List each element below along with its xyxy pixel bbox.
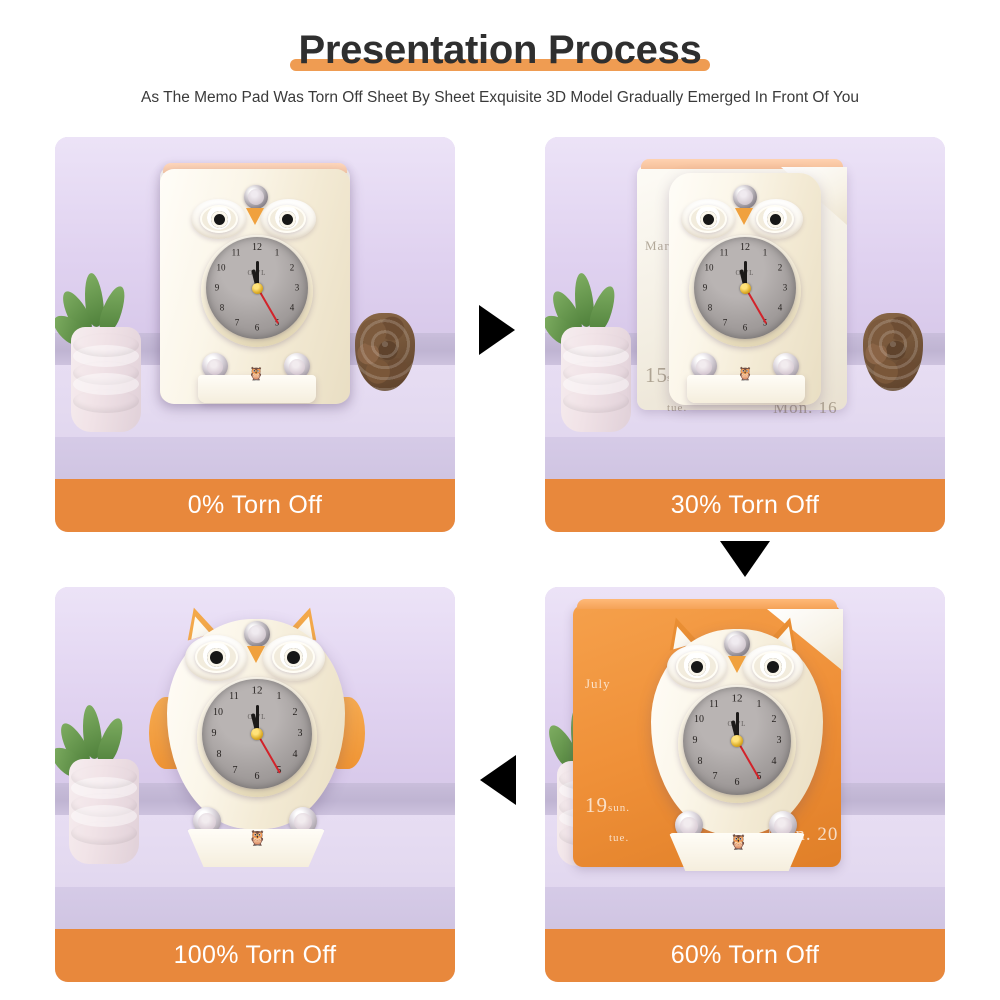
- owl-pupil-right: [764, 658, 782, 676]
- panel-60-percent[interactable]: July 19 sun. tue. Mon. 20: [545, 587, 945, 982]
- owl-beak: [247, 646, 265, 663]
- owl-eye-right: [752, 651, 794, 682]
- arrow-right-icon: [479, 305, 515, 355]
- panel-photo: OWL 12 1 2 3 4 5 6 7 8 9 10 11: [55, 587, 455, 929]
- page-header: Presentation Process As The Memo Pad Was…: [0, 0, 1000, 125]
- owl-eye-right: [268, 205, 306, 233]
- clock-face: OWL 12 1 2 3 4 5 6 7 8 9 10 11: [206, 237, 308, 339]
- title-wrapper: Presentation Process: [0, 26, 1000, 78]
- succulent-plant: [61, 265, 153, 435]
- owl-pupil-left: [207, 648, 226, 667]
- plant-pot: [71, 327, 141, 432]
- owl-eye-right: [756, 205, 794, 233]
- memo-date-left: 19: [585, 795, 608, 816]
- alarm-bell-button[interactable]: [244, 185, 268, 209]
- owl-eye-left: [195, 641, 238, 673]
- panel-caption: 60% Torn Off: [545, 929, 945, 982]
- owl-pupil-right: [767, 211, 784, 228]
- owl-clock: OWL 12 1 2 3 4 5 6 7 8 9 10 11: [151, 601, 366, 901]
- owl-eye-left: [200, 205, 238, 233]
- plant-pot: [69, 759, 139, 864]
- panel-photo: March 15 sun. tue. Mon. 16: [545, 137, 945, 479]
- succulent-plant: [59, 697, 151, 867]
- panel-caption: 30% Torn Off: [545, 479, 945, 532]
- owl-clock: OWL 12 1 2 3 4 5 6 7 8 9 10 11: [158, 161, 356, 431]
- owl-logo-badge: 🦉: [248, 367, 264, 380]
- page-title: Presentation Process: [298, 28, 701, 72]
- panel-caption: 100% Torn Off: [55, 929, 455, 982]
- arrow-left-icon: [480, 755, 516, 805]
- alarm-bell-button[interactable]: [244, 621, 270, 647]
- owl-logo-badge: 🦉: [729, 835, 748, 850]
- owl-eye-right: [272, 641, 315, 673]
- backdrop-foreground: [545, 437, 945, 479]
- owl-clock: OWL 12 1 2 3 4 5 6 7 8 9 10 11: [663, 163, 843, 429]
- panel-30-percent[interactable]: March 15 sun. tue. Mon. 16: [545, 137, 945, 532]
- backdrop-foreground: [55, 437, 455, 479]
- panel-100-percent[interactable]: OWL 12 1 2 3 4 5 6 7 8 9 10 11: [55, 587, 455, 982]
- panel-0-percent[interactable]: OWL 12 1 2 3 4 5 6 7 8 9 10 11: [55, 137, 455, 532]
- memo-day-left: sun.: [608, 803, 630, 814]
- memo-day-mid: tue.: [609, 833, 629, 844]
- memo-pad-top-edge: [577, 599, 837, 609]
- presentation-page: Presentation Process As The Memo Pad Was…: [0, 0, 1000, 1000]
- owl-logo-badge: 🦉: [248, 831, 267, 846]
- clock-face: OWL 12 1 2 3 4 5 6 7 8 9 10 11: [683, 687, 791, 795]
- alarm-bell-button[interactable]: [733, 185, 757, 209]
- page-subtitle: As The Memo Pad Was Torn Off Sheet By Sh…: [0, 88, 1000, 108]
- panel-photo: OWL 12 1 2 3 4 5 6 7 8 9 10 11: [55, 137, 455, 479]
- owl-pupil-right: [279, 211, 296, 228]
- owl-pupil-right: [284, 648, 303, 667]
- alarm-bell-button[interactable]: [724, 631, 750, 657]
- panel-caption: 0% Torn Off: [55, 479, 455, 532]
- succulent-plant: [551, 265, 643, 435]
- owl-eye-left: [689, 205, 727, 233]
- owl-beak: [735, 208, 753, 225]
- owl-clock: OWL 12 1 2 3 4 5 6 7 8 9 10 11: [637, 609, 847, 899]
- panel-grid: OWL 12 1 2 3 4 5 6 7 8 9 10 11: [55, 137, 945, 982]
- owl-eye-left: [676, 651, 718, 682]
- memo-month-label: July: [585, 677, 611, 690]
- arrow-down-icon: [720, 541, 770, 577]
- plant-pot: [561, 327, 631, 432]
- clock-face: OWL 12 1 2 3 4 5 6 7 8 9 10 11: [202, 679, 312, 789]
- owl-pupil-left: [700, 211, 717, 228]
- owl-pupil-left: [688, 658, 706, 676]
- panel-photo: July 19 sun. tue. Mon. 20: [545, 587, 945, 929]
- owl-beak: [246, 208, 264, 225]
- owl-pupil-left: [211, 211, 228, 228]
- owl-beak: [728, 656, 746, 673]
- owl-logo-badge: 🦉: [737, 367, 753, 380]
- clock-face: OWL 12 1 2 3 4 5 6 7 8 9 10 11: [694, 237, 796, 339]
